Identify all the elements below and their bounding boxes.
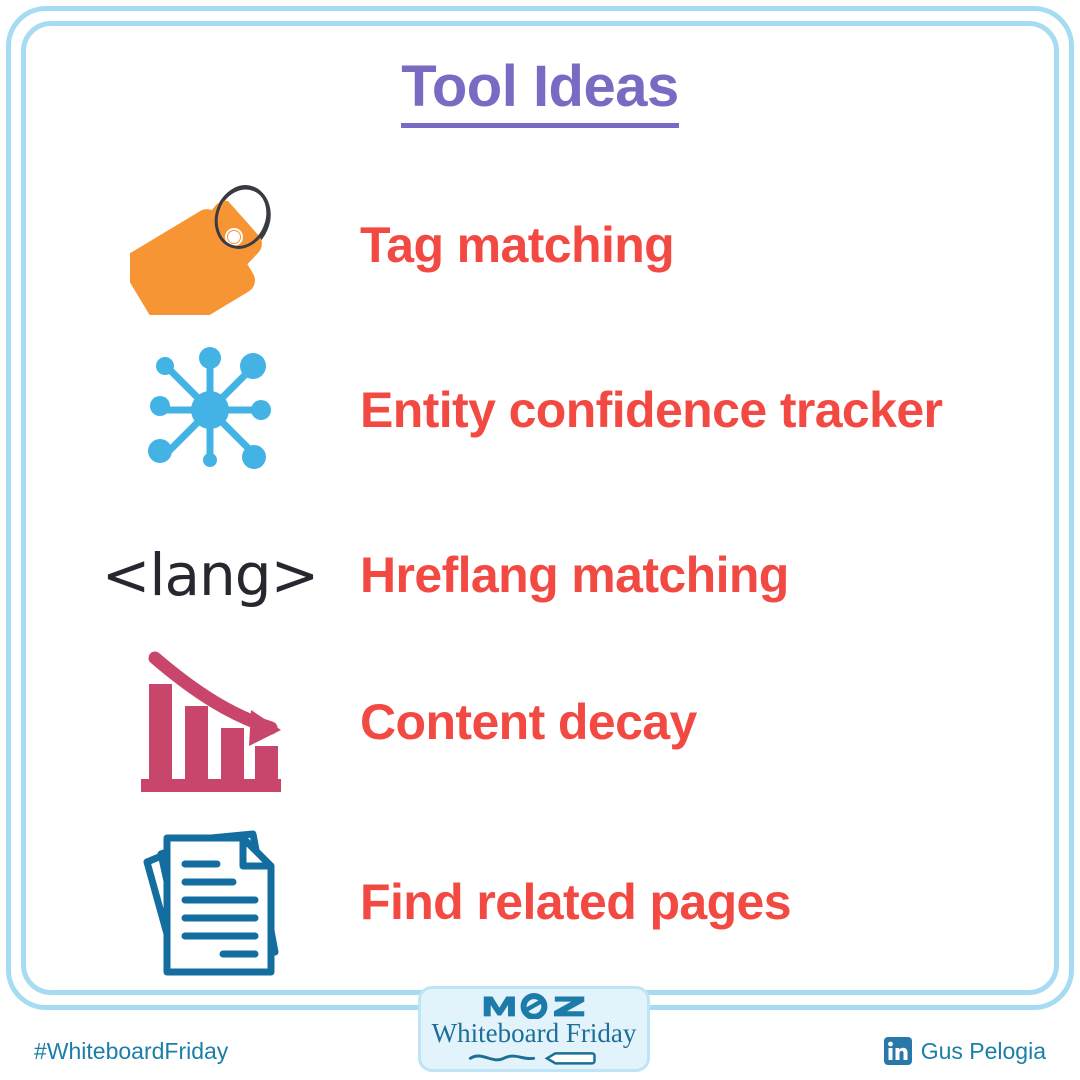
page-title: Tool Ideas	[401, 58, 679, 128]
network-hub-icon	[140, 340, 280, 480]
list-item-label: Entity confidence tracker	[360, 384, 942, 437]
lang-tag-icon: <lang>	[102, 541, 318, 609]
moz-logo-icon	[482, 993, 586, 1019]
list-item: Entity confidence tracker	[60, 335, 1040, 485]
author-credit: Gus Pelogia	[884, 1037, 1046, 1065]
icon-cell	[60, 340, 360, 480]
moz-whiteboard-friday-badge: Whiteboard Friday	[418, 986, 650, 1072]
list-item: <lang> Hreflang matching	[60, 520, 1040, 630]
icon-cell	[60, 820, 360, 985]
list-item: Tag matching	[60, 175, 1040, 315]
marker-squiggle-icon	[467, 1050, 600, 1065]
icon-cell	[60, 648, 360, 798]
stacked-documents-icon	[125, 820, 295, 985]
linkedin-icon[interactable]	[884, 1037, 912, 1065]
page-title-container: Tool Ideas	[0, 58, 1080, 128]
list-item: Content decay	[60, 645, 1040, 800]
list-item-label: Find related pages	[360, 876, 791, 929]
price-tag-icon	[130, 175, 290, 315]
hashtag-label: #WhiteboardFriday	[34, 1040, 228, 1063]
icon-cell: <lang>	[60, 541, 360, 609]
whiteboard-friday-slide: Tool Ideas Tag matching	[0, 0, 1080, 1080]
moz-badge-subtitle: Whiteboard Friday	[432, 1020, 637, 1047]
list-item: Find related pages	[60, 815, 1040, 990]
list-item-label: Content decay	[360, 696, 697, 749]
icon-cell	[60, 175, 360, 315]
author-name: Gus Pelogia	[921, 1040, 1046, 1063]
declining-bar-chart-icon	[135, 648, 285, 798]
list-item-label: Hreflang matching	[360, 549, 789, 602]
list-item-label: Tag matching	[360, 219, 674, 272]
